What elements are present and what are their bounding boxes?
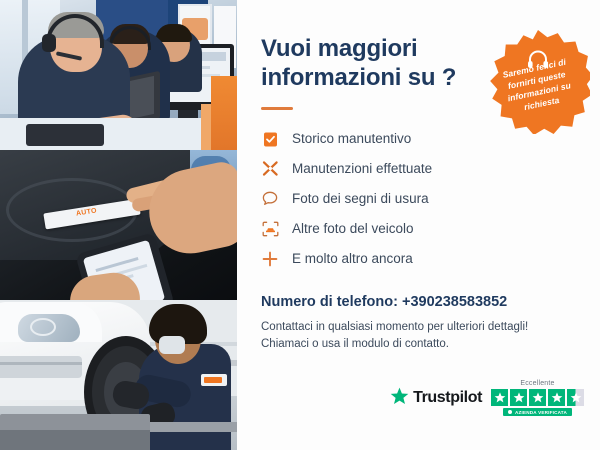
orange-accent-decor-2 — [201, 104, 211, 150]
list-item-label: E molto altro ancora — [292, 252, 413, 266]
list-item[interactable]: Foto dei segni di usura — [261, 190, 578, 208]
car-scan-icon — [261, 220, 279, 238]
trustpilot-star-icon — [390, 387, 409, 410]
content-panel: Vuoi maggiori informazioni su ? Saremo f… — [237, 0, 600, 450]
mechanic-wheel-photo — [0, 300, 237, 450]
verified-label: AZIENDA VERIFICATA — [515, 410, 567, 415]
phone-number-label[interactable]: Numero di telefono: +390238583852 — [261, 294, 578, 310]
callout-badge: Saremo felici di fornirti queste informa… — [486, 30, 590, 134]
tablet-decor — [26, 124, 104, 146]
promo-banner: AUTO — [0, 0, 600, 450]
photo-collage: AUTO — [0, 0, 237, 450]
star-filled — [529, 389, 546, 406]
list-item[interactable]: Manutenzioni effettuate — [261, 160, 578, 178]
vehicle-inspection-photo: AUTO — [0, 150, 237, 300]
mechanic-mask — [159, 336, 185, 354]
clipboard-check-icon — [261, 130, 279, 148]
star-filled — [491, 389, 508, 406]
uniform-logo-decor — [201, 374, 227, 386]
wrench-cross-icon — [261, 160, 279, 178]
contact-description: Contattaci in qualsiasi momento per ulte… — [261, 319, 578, 354]
agent-1-earcup — [42, 34, 56, 52]
list-item[interactable]: E molto altro ancora — [261, 250, 578, 268]
orange-accent-decor — [211, 76, 237, 150]
agent-3-hair — [156, 24, 192, 42]
call-center-photo — [0, 0, 237, 150]
trustpilot-rating: Eccellente — [491, 380, 584, 416]
page-title: Vuoi maggiori informazioni su ? — [261, 34, 471, 93]
trustpilot-name: Trustpilot — [413, 389, 482, 407]
trustpilot-logo: Trustpilot — [390, 387, 482, 410]
speech-bubble-icon — [261, 190, 279, 208]
car-grille-decor — [0, 356, 82, 378]
feature-list: Storico manutentivo Manutenzioni effettu… — [261, 130, 578, 268]
verified-check-icon — [508, 410, 512, 414]
contact-line-1: Contattaci in qualsiasi momento per ulte… — [261, 319, 578, 336]
car-grille-line-decor — [0, 362, 82, 365]
list-item[interactable]: Altre foto del veicolo — [261, 220, 578, 238]
star-filled — [548, 389, 565, 406]
list-item-label: Foto dei segni di usura — [292, 192, 429, 206]
verified-business-badge: AZIENDA VERIFICATA — [503, 408, 572, 416]
list-item-label: Manutenzioni effettuate — [292, 162, 432, 176]
star-half — [567, 389, 584, 406]
contact-line-2: Chiamaci o usa il modulo di contatto. — [261, 336, 578, 353]
plus-icon — [261, 250, 279, 268]
title-divider — [261, 107, 293, 110]
list-item-label: Storico manutentivo — [292, 132, 411, 146]
rating-label: Eccellente — [520, 380, 554, 387]
star-filled — [510, 389, 527, 406]
headlight-inner-decor — [30, 318, 56, 336]
trustpilot-widget[interactable]: Trustpilot Eccellente — [390, 380, 584, 416]
list-item-label: Altre foto del veicolo — [292, 222, 414, 236]
star-rating — [491, 389, 584, 406]
car-lift-base-decor — [0, 430, 150, 450]
